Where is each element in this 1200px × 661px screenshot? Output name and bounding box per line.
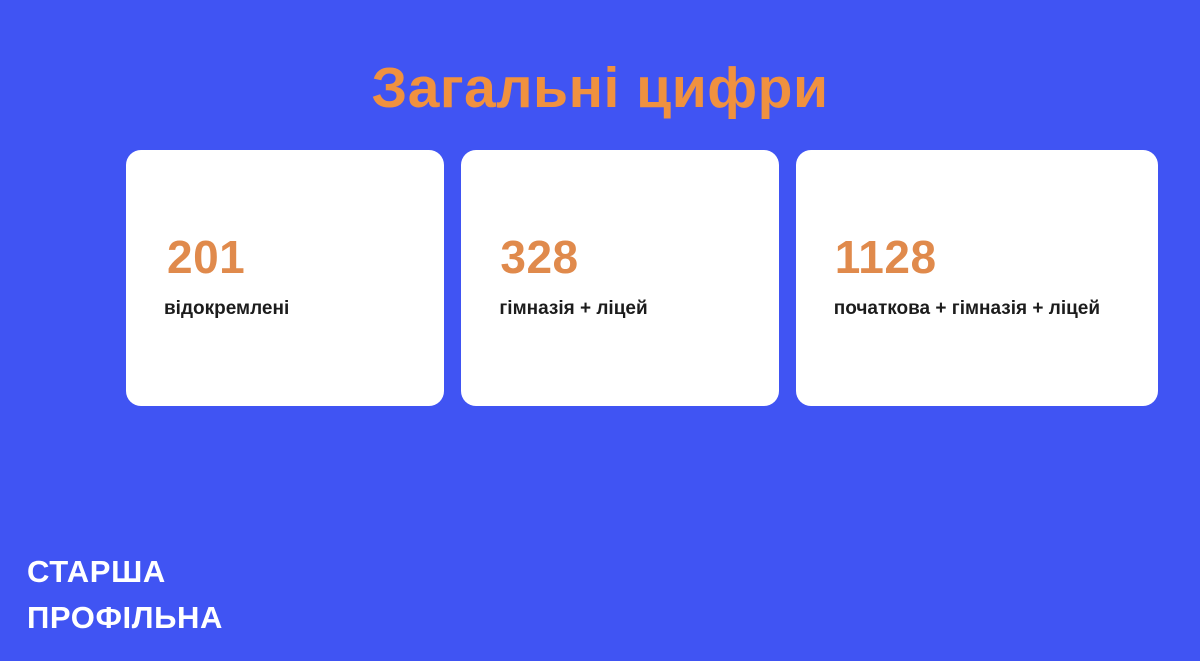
stat-label: відокремлені xyxy=(164,296,289,323)
stat-label: початкова + гімназія + ліцей xyxy=(834,296,1100,323)
slide-canvas: Загальні цифри 201 відокремлені 328 гімн… xyxy=(0,0,1200,661)
stat-label: гімназія + ліцей xyxy=(499,296,647,323)
stat-value: 1128 xyxy=(835,233,937,281)
stat-card-328: 328 гімназія + ліцей xyxy=(461,150,778,406)
stat-card-1128: 1128 початкова + гімназія + ліцей xyxy=(796,150,1158,406)
bottom-caption: СТАРША ПРОФІЛЬНА xyxy=(27,549,223,640)
bottom-caption-line-2: ПРОФІЛЬНА xyxy=(27,595,223,641)
stat-card-201: 201 відокремлені xyxy=(126,150,444,406)
bottom-caption-line-1: СТАРША xyxy=(27,549,223,595)
stat-card-row: 201 відокремлені 328 гімназія + ліцей 11… xyxy=(126,150,1158,406)
stat-value: 201 xyxy=(167,233,245,281)
stat-value: 328 xyxy=(500,233,578,281)
page-title: Загальні цифри xyxy=(0,56,1200,122)
